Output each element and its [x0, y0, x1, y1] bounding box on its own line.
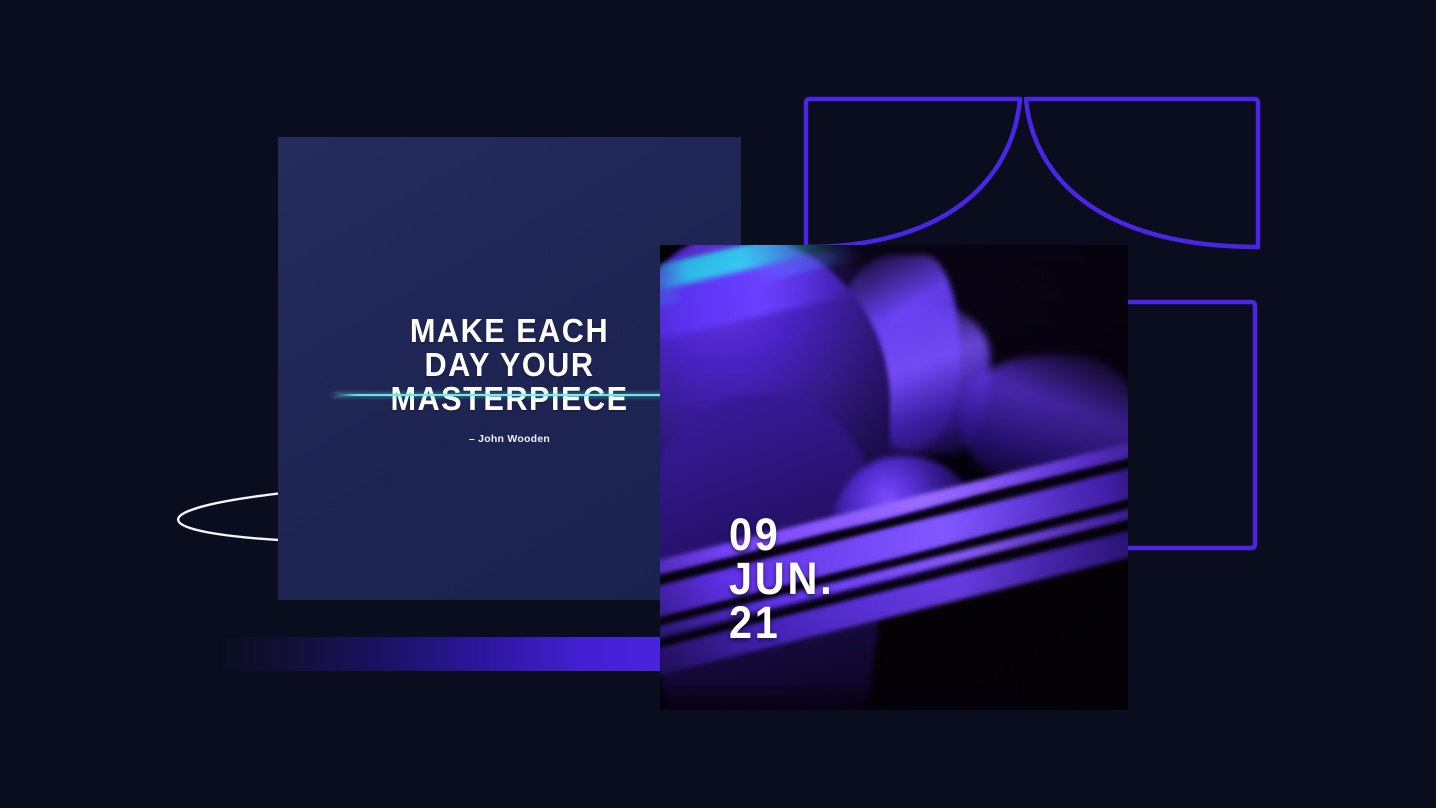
- petal-top-left: [806, 99, 1020, 247]
- date-year: 21: [729, 601, 834, 645]
- date-overlay: 09 JUN. 21: [729, 513, 844, 645]
- photo-card: 09 JUN. 21: [660, 245, 1128, 710]
- date-month: JUN.: [729, 557, 834, 601]
- petal-top-right: [1026, 99, 1258, 247]
- date-day: 09: [729, 513, 834, 557]
- poster-canvas: MAKE EACH DAY YOUR MASTERPIECE – John Wo…: [0, 0, 1436, 808]
- gradient-bar: [222, 637, 660, 671]
